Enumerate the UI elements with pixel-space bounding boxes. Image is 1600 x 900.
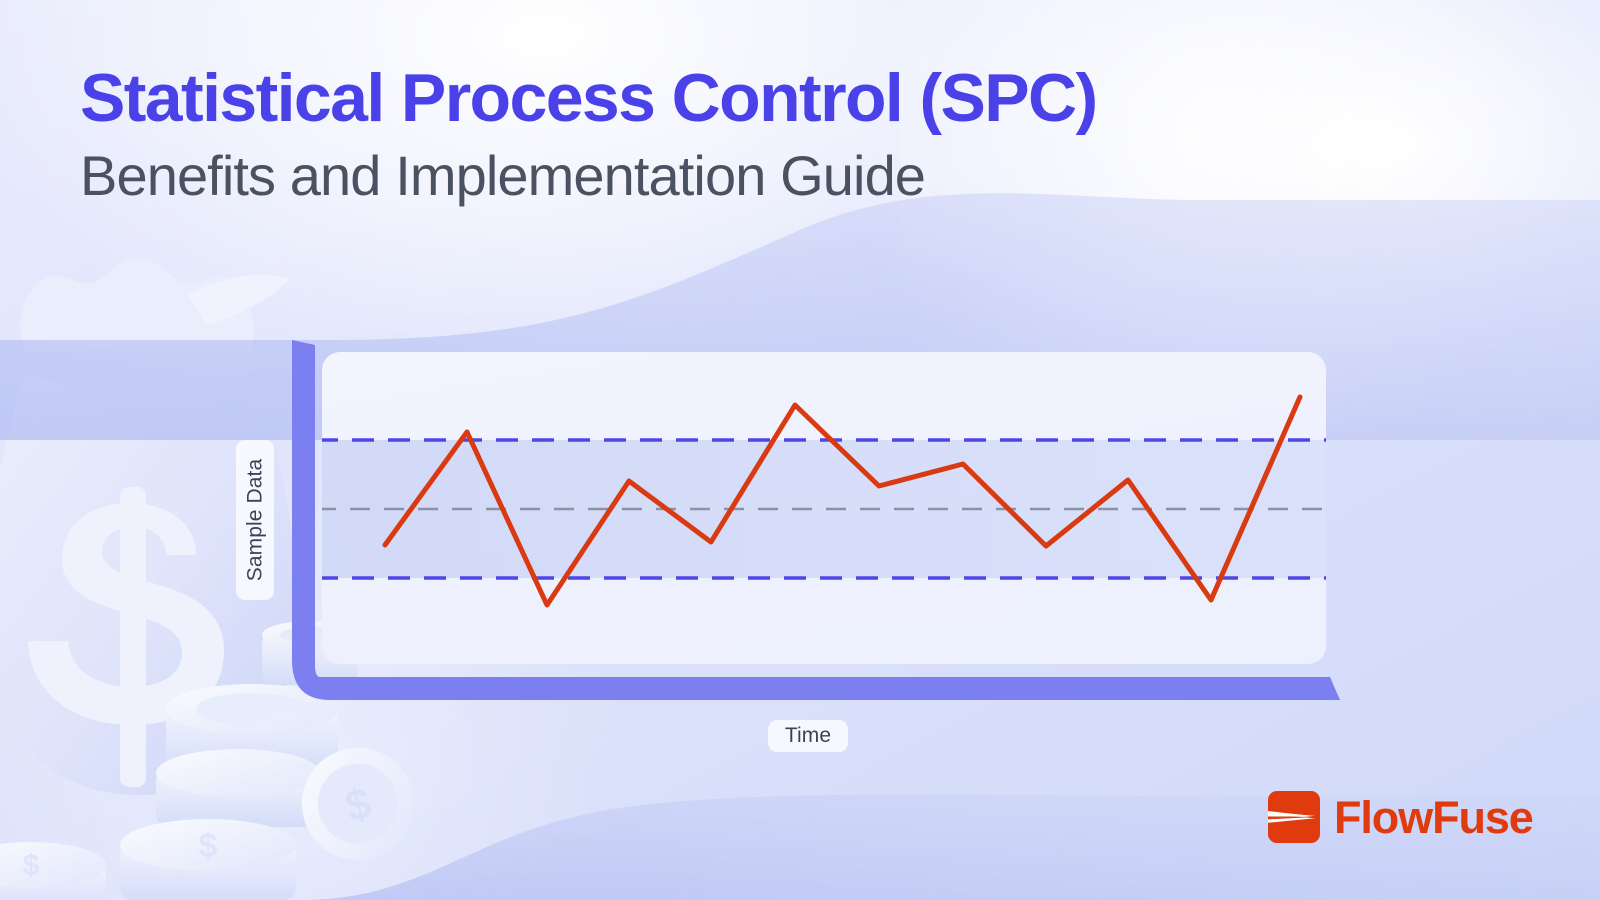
x-axis-label: Time <box>768 720 848 752</box>
spc-control-chart: Sample Data Time <box>0 0 1600 900</box>
poster-canvas: $ $ $ <box>0 0 1600 900</box>
flowfuse-logo-icon <box>1268 791 1320 843</box>
y-axis-label: Sample Data <box>236 440 274 600</box>
flowfuse-logo[interactable]: FlowFuse <box>1268 791 1533 843</box>
flowfuse-wordmark: FlowFuse <box>1334 795 1533 840</box>
